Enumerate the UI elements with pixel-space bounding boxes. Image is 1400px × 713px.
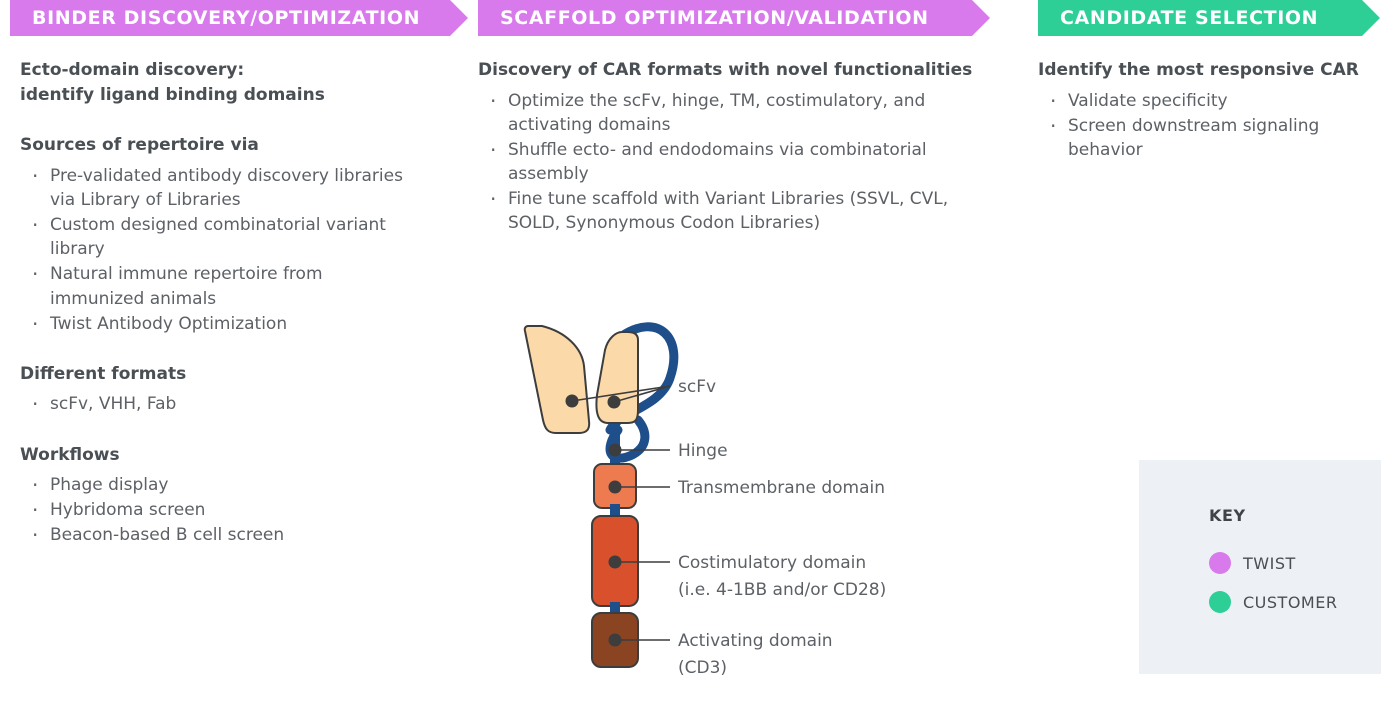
- key-title: KEY: [1209, 506, 1246, 525]
- twist-color-dot-icon: [1209, 552, 1231, 574]
- column-lead: Ecto-domain discovery: identify ligand b…: [20, 58, 420, 107]
- key-entry-customer: CUSTOMER: [1209, 591, 1337, 613]
- section-heading-workflows: Workflows: [20, 443, 420, 468]
- column-binder-discovery: Ecto-domain discovery: identify ligand b…: [20, 58, 420, 549]
- lead-line: Discovery of CAR formats with novel func…: [478, 60, 972, 80]
- lead-line: Identify the most responsive CAR: [1038, 60, 1359, 80]
- stage-banner-label: BINDER DISCOVERY/OPTIMIZATION: [32, 7, 420, 29]
- banner-arrow-icon: [1362, 0, 1380, 36]
- scfv-lobe-right: [596, 332, 638, 423]
- car-construct-diagram: scFv Hinge Transmembrane domain Costimul…: [498, 300, 978, 700]
- scfv-lobe-left: [525, 326, 589, 433]
- list-item: Hybridoma screen: [30, 498, 420, 522]
- list-item: Shuffle ecto- and endodomains via combin…: [488, 138, 998, 186]
- bullet-list-workflows: Phage display Hybridoma screen Beacon-ba…: [20, 473, 420, 547]
- list-item: Twist Antibody Optimization: [30, 312, 420, 336]
- stage-banner-label: SCAFFOLD OPTIMIZATION/VALIDATION: [500, 7, 929, 29]
- anchor-dot-scfv-left: [566, 395, 579, 408]
- column-scaffold-optimization: Discovery of CAR formats with novel func…: [478, 58, 998, 236]
- list-item: Custom designed combinatorial variant li…: [30, 213, 420, 261]
- bullet-list-candidate: Validate specificity Screen downstream s…: [1038, 89, 1388, 162]
- list-item: Validate specificity: [1048, 89, 1388, 113]
- anchor-dot-activating: [609, 634, 622, 647]
- label-scfv: scFv: [678, 377, 716, 397]
- label-activating-line2: (CD3): [678, 658, 727, 678]
- list-item: Natural immune repertoire from immunized…: [30, 262, 420, 310]
- label-costimulatory-line2: (i.e. 4-1BB and/or CD28): [678, 580, 886, 600]
- list-item: Pre-validated antibody discovery librari…: [30, 164, 420, 212]
- bullet-list-formats: scFv, VHH, Fab: [20, 392, 420, 416]
- anchor-dot-transmembrane: [609, 481, 622, 494]
- section-heading-sources: Sources of repertoire via: [20, 133, 420, 158]
- key-entry-label: CUSTOMER: [1243, 593, 1337, 612]
- anchor-dot-hinge: [609, 444, 622, 457]
- column-lead: Discovery of CAR formats with novel func…: [478, 58, 998, 83]
- list-item: Fine tune scaffold with Variant Librarie…: [488, 187, 998, 235]
- list-item: Phage display: [30, 473, 420, 497]
- stage-banner-scaffold-optimization[interactable]: SCAFFOLD OPTIMIZATION/VALIDATION: [478, 0, 972, 36]
- label-costimulatory-line1: Costimulatory domain: [678, 553, 866, 573]
- lead-line: Ecto-domain discovery:: [20, 60, 244, 80]
- label-transmembrane: Transmembrane domain: [677, 478, 885, 498]
- key-legend-box: KEY TWIST CUSTOMER: [1139, 460, 1381, 674]
- column-candidate-selection: Identify the most responsive CAR Validat…: [1038, 58, 1388, 163]
- list-item: Screen downstream signaling behavior: [1048, 114, 1388, 162]
- stage-banner-label: CANDIDATE SELECTION: [1060, 7, 1318, 29]
- anchor-dot-scfv-right: [608, 396, 621, 409]
- lead-line: identify ligand binding domains: [20, 85, 325, 105]
- stage-banner-candidate-selection[interactable]: CANDIDATE SELECTION: [1038, 0, 1362, 36]
- label-activating-line1: Activating domain: [678, 631, 833, 651]
- anchor-dot-costimulatory: [609, 556, 622, 569]
- stage-banner-binder-discovery[interactable]: BINDER DISCOVERY/OPTIMIZATION: [10, 0, 450, 36]
- banner-arrow-icon: [972, 0, 990, 36]
- banner-arrow-icon: [450, 0, 468, 36]
- key-entry-label: TWIST: [1243, 554, 1296, 573]
- key-entry-twist: TWIST: [1209, 552, 1296, 574]
- section-heading-formats: Different formats: [20, 362, 420, 387]
- label-hinge: Hinge: [678, 441, 728, 461]
- column-lead: Identify the most responsive CAR: [1038, 58, 1388, 83]
- list-item: Optimize the scFv, hinge, TM, costimulat…: [488, 89, 998, 137]
- list-item: scFv, VHH, Fab: [30, 392, 420, 416]
- bullet-list-sources: Pre-validated antibody discovery librari…: [20, 164, 420, 336]
- bullet-list-scaffold: Optimize the scFv, hinge, TM, costimulat…: [478, 89, 998, 236]
- list-item: Beacon-based B cell screen: [30, 523, 420, 547]
- customer-color-dot-icon: [1209, 591, 1231, 613]
